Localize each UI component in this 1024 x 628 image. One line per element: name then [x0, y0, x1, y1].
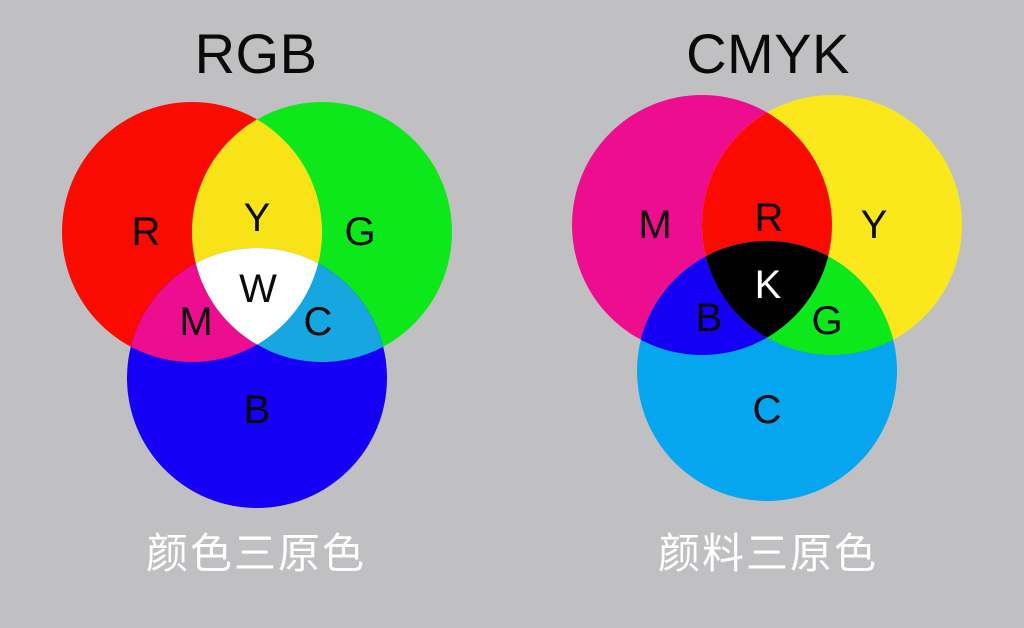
rgb-label-B: B: [244, 388, 271, 432]
rgb-panel-caption: 颜色三原色: [0, 533, 512, 575]
rgb-label-R: R: [132, 210, 161, 254]
cmyk-panel: CMYK: [512, 0, 1024, 628]
color-model-diagram: RGB: [0, 0, 1024, 628]
cmyk-label-Y: Y: [861, 203, 888, 247]
rgb-label-C: C: [304, 300, 333, 344]
cmyk-label-M: M: [638, 203, 671, 247]
rgb-panel: RGB: [0, 0, 512, 628]
rgb-label-Y: Y: [244, 196, 271, 240]
rgb-label-W: W: [239, 267, 277, 311]
cmyk-panel-caption: 颜料三原色: [512, 533, 1024, 575]
cmyk-label-G: G: [811, 299, 842, 343]
cmyk-label-C: C: [753, 388, 782, 432]
cmyk-label-K: K: [755, 263, 782, 307]
rgb-label-G: G: [344, 210, 375, 254]
cmyk-label-R: R: [755, 196, 784, 240]
rgb-label-M: M: [179, 300, 212, 344]
cmyk-label-B: B: [696, 296, 723, 340]
